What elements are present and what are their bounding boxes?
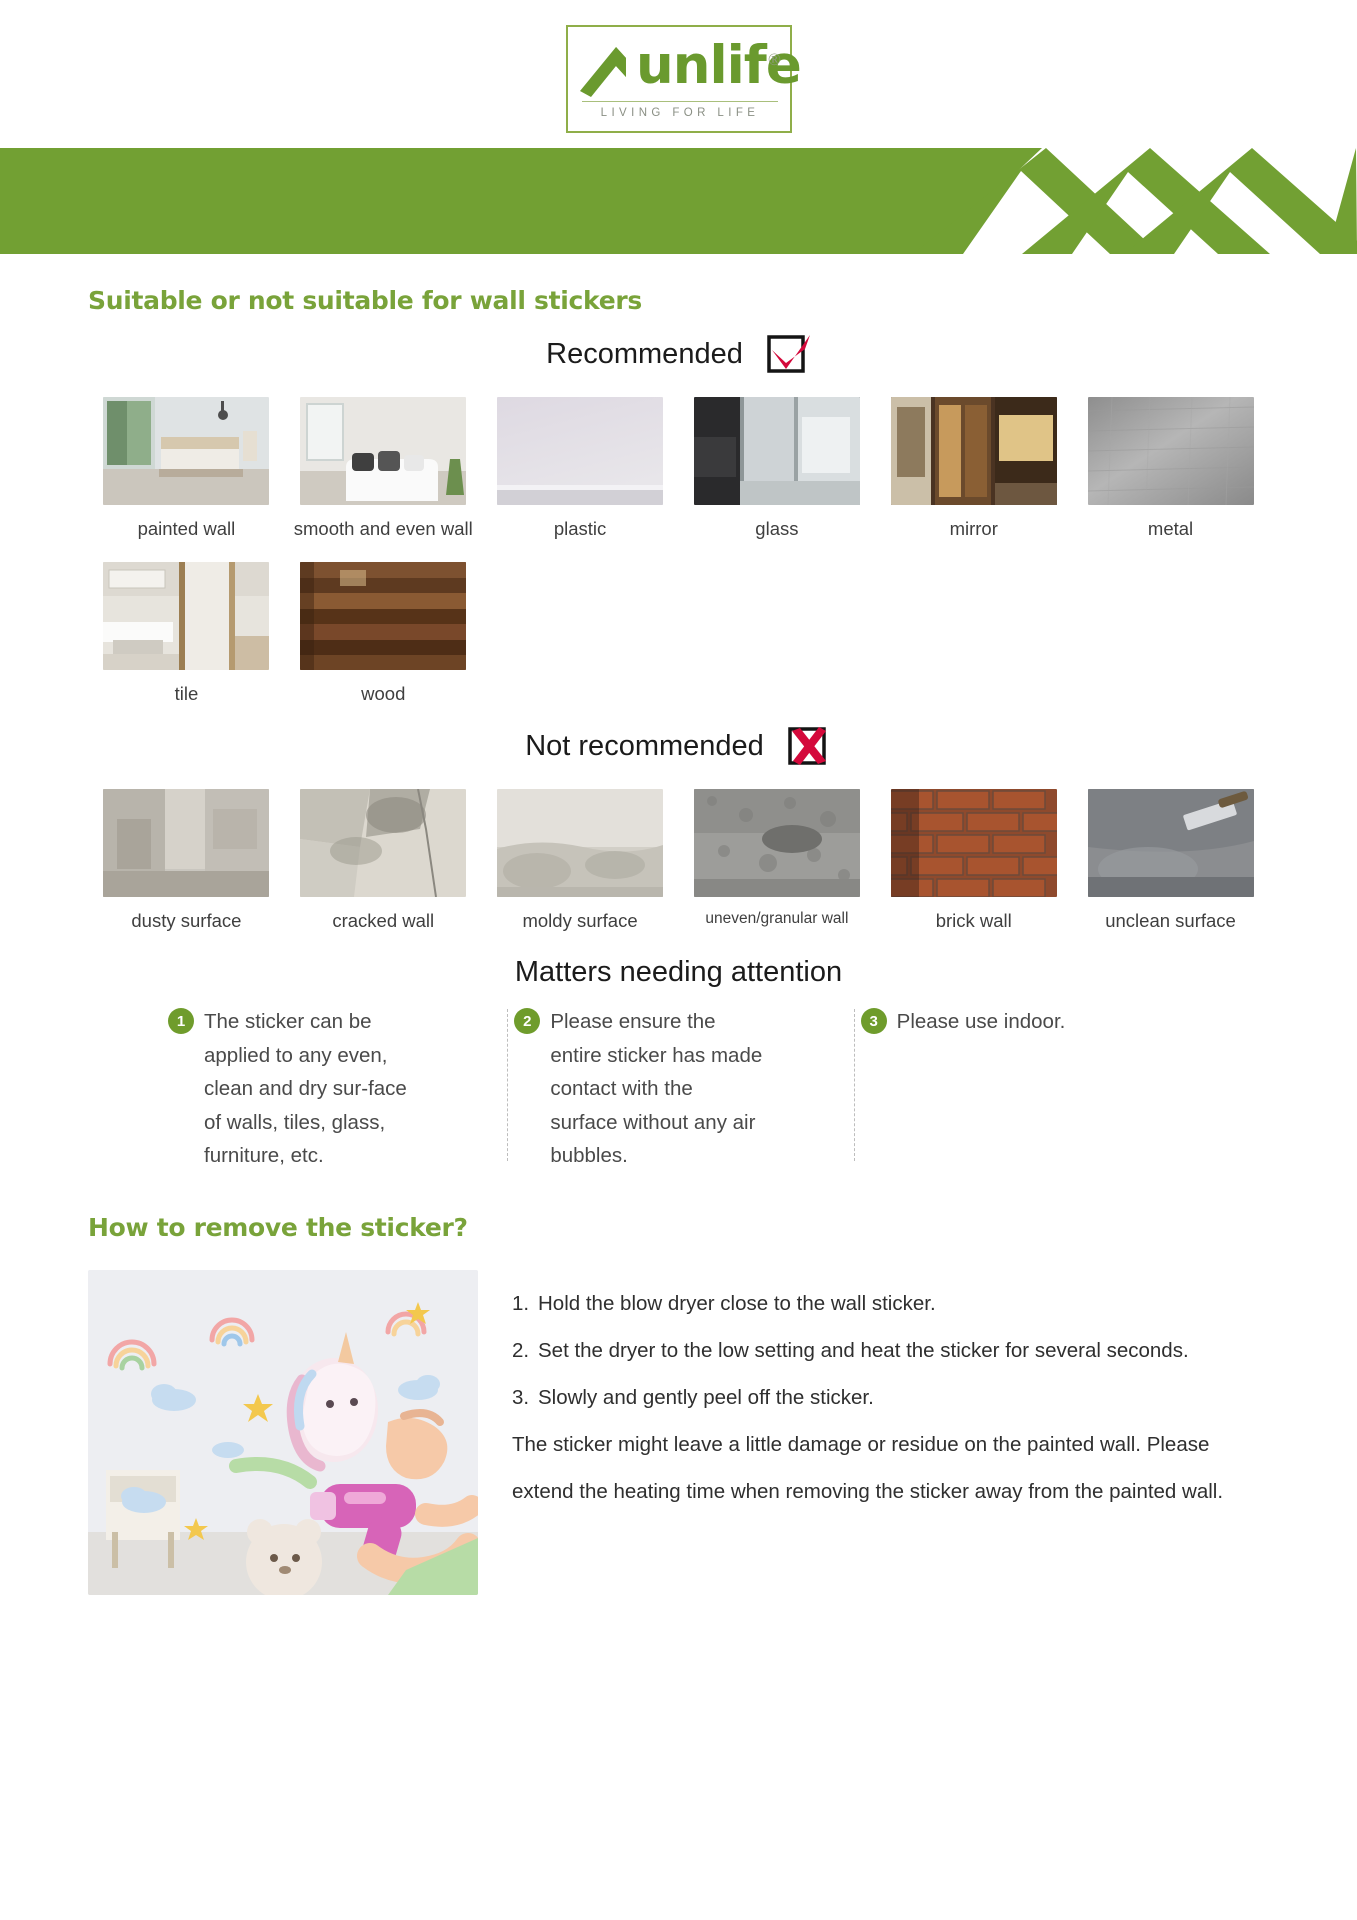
- recommended-row-2: tile wood: [0, 562, 1357, 705]
- remove-steps: 1.Hold the blow dryer close to the wall …: [512, 1270, 1269, 1595]
- remove-step: 1.Hold the blow dryer close to the wall …: [512, 1280, 1269, 1327]
- remove-step: 3.Slowly and gently peel off the sticker…: [512, 1374, 1269, 1421]
- thumb-uneven-granular-wall: [694, 789, 860, 897]
- remove-sticker-photo: [88, 1270, 478, 1595]
- attention-text: Please ensure the entire sticker has mad…: [550, 1005, 765, 1173]
- thumb-plastic: [497, 397, 663, 505]
- thumb-metal: [1088, 397, 1254, 505]
- thumb-label: unclean surface: [1105, 910, 1236, 932]
- recommended-title: Recommended: [546, 338, 743, 371]
- thumb-label: tile: [175, 683, 199, 705]
- thumb-wood: [300, 562, 466, 670]
- attention-text: Please use indoor.: [897, 1005, 1066, 1039]
- not-recommended-title-row: Not recommended: [0, 725, 1357, 767]
- thumb-unclean-surface: [1088, 789, 1254, 897]
- thumb-label: plastic: [554, 518, 606, 540]
- attention-text: The sticker can be applied to any even, …: [204, 1005, 419, 1173]
- thumb-cell: glass: [678, 397, 875, 540]
- step-text: Slowly and gently peel off the sticker.: [538, 1386, 874, 1409]
- thumb-painted-wall: [103, 397, 269, 505]
- thumb-dusty-surface: [103, 789, 269, 897]
- remove-heading: How to remove the sticker?: [88, 1213, 1269, 1242]
- thumb-label: mirror: [950, 518, 998, 540]
- brand-tagline: LIVING FOR LIFE: [582, 107, 778, 119]
- recommended-title-row: Recommended: [0, 333, 1357, 375]
- thumb-cell: brick wall: [875, 789, 1072, 932]
- thumb-glass: [694, 397, 860, 505]
- thumb-smooth-and-even-wall: [300, 397, 466, 505]
- attention-heading: Matters needing attention: [0, 956, 1357, 989]
- thumb-mirror: [891, 397, 1057, 505]
- suitability-heading: Suitable or not suitable for wall sticke…: [88, 286, 1269, 315]
- header: unlife ® LIVING FOR LIFE: [0, 0, 1357, 148]
- thumb-label: dusty surface: [131, 910, 241, 932]
- not-recommended-row: dusty surface cracked wall: [0, 789, 1357, 932]
- thumb-label: wood: [361, 683, 405, 705]
- step-number: 1.: [512, 1280, 538, 1327]
- green-chevron-banner: [0, 148, 1357, 254]
- logo-divider: [582, 101, 778, 102]
- attention-items: 1 The sticker can be applied to any even…: [0, 1005, 1357, 1173]
- remove-step: 2.Set the dryer to the low setting and h…: [512, 1327, 1269, 1374]
- thumb-label: uneven/granular wall: [705, 910, 848, 928]
- thumb-cell: cracked wall: [285, 789, 482, 932]
- attention-number-badge: 1: [168, 1008, 194, 1034]
- registered-trademark-icon: ®: [768, 50, 781, 70]
- attention-item-2: 2 Please ensure the entire sticker has m…: [514, 1005, 860, 1173]
- attention-number-badge: 2: [514, 1008, 540, 1034]
- thumb-label: smooth and even wall: [294, 518, 473, 540]
- thumb-label: moldy surface: [522, 910, 637, 932]
- remove-heading-wrap: How to remove the sticker?: [0, 1173, 1357, 1242]
- remove-note: The sticker might leave a little damage …: [512, 1421, 1269, 1515]
- check-mark-icon: [765, 333, 811, 375]
- step-number: 2.: [512, 1327, 538, 1374]
- thumb-moldy-surface: [497, 789, 663, 897]
- thumb-cell: plastic: [482, 397, 679, 540]
- thumb-label: cracked wall: [332, 910, 434, 932]
- attention-number-badge: 3: [861, 1008, 887, 1034]
- thumb-label: glass: [755, 518, 798, 540]
- cross-mark-icon: [786, 725, 832, 767]
- not-recommended-title: Not recommended: [525, 730, 764, 763]
- thumb-cracked-wall: [300, 789, 466, 897]
- thumb-cell: metal: [1072, 397, 1269, 540]
- attention-item-1: 1 The sticker can be applied to any even…: [168, 1005, 514, 1173]
- attention-item-3: 3 Please use indoor.: [861, 1005, 1207, 1173]
- step-text: Hold the blow dryer close to the wall st…: [538, 1292, 936, 1315]
- thumb-cell: dusty surface: [88, 789, 285, 932]
- thumb-brick-wall: [891, 789, 1057, 897]
- thumb-label: painted wall: [138, 518, 236, 540]
- recommended-row-1: painted wall smooth and even wall: [0, 397, 1357, 540]
- thumb-cell: uneven/granular wall: [678, 789, 875, 932]
- suitability-heading-wrap: Suitable or not suitable for wall sticke…: [0, 254, 1357, 315]
- thumb-cell: moldy surface: [482, 789, 679, 932]
- infographic-page: unlife ® LIVING FOR LIFE Suitable or not…: [0, 0, 1357, 1920]
- thumb-cell: tile: [88, 562, 285, 705]
- thumb-label: brick wall: [936, 910, 1012, 932]
- thumb-cell: painted wall: [88, 397, 285, 540]
- thumb-cell: wood: [285, 562, 482, 705]
- banner-graphic: [0, 148, 1357, 254]
- thumb-tile: [103, 562, 269, 670]
- brand-logo: unlife ® LIVING FOR LIFE: [566, 25, 792, 133]
- step-text: Set the dryer to the low setting and hea…: [538, 1339, 1189, 1362]
- thumb-label: metal: [1148, 518, 1193, 540]
- thumb-cell: mirror: [875, 397, 1072, 540]
- step-number: 3.: [512, 1374, 538, 1421]
- thumb-cell: unclean surface: [1072, 789, 1269, 932]
- thumb-cell: smooth and even wall: [285, 397, 482, 540]
- remove-content: 1.Hold the blow dryer close to the wall …: [0, 1270, 1357, 1595]
